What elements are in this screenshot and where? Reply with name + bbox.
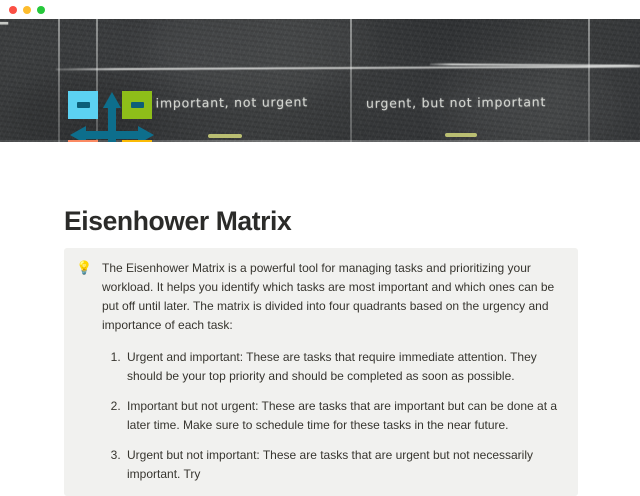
chalk-divider-horizontal: [56, 66, 640, 71]
list-item[interactable]: Important but not urgent: These are task…: [124, 397, 564, 435]
close-window-button[interactable]: [9, 6, 17, 14]
chalk-dash-mark: [445, 133, 477, 137]
cover-quadrant-label-urgent-but-not-important: urgent, but not important: [366, 94, 546, 111]
document-body: Eisenhower Matrix 💡 The Eisenhower Matri…: [0, 142, 640, 400]
cover-vertical-chalk-text: important: [0, 19, 15, 27]
quadrant-numbered-list: Urgent and important: These are tasks th…: [102, 348, 564, 484]
callout-block[interactable]: 💡 The Eisenhower Matrix is a powerful to…: [64, 248, 578, 496]
maximize-window-button[interactable]: [37, 6, 45, 14]
callout-paragraph[interactable]: The Eisenhower Matrix is a powerful tool…: [102, 259, 564, 335]
callout-content: The Eisenhower Matrix is a powerful tool…: [102, 259, 564, 484]
page-icon-tile-top-right: [122, 91, 152, 119]
chalk-dash-mark: [208, 134, 242, 138]
list-item[interactable]: Urgent and important: These are tasks th…: [124, 348, 564, 386]
page-icon-tile-bar: [77, 102, 90, 108]
page-icon-tile-top-left: [68, 91, 98, 119]
window-title-bar: [0, 0, 640, 19]
light-bulb-icon[interactable]: 💡: [76, 259, 93, 484]
chalk-smudge: [140, 19, 370, 99]
list-item[interactable]: Urgent but not important: These are task…: [124, 446, 564, 484]
window-controls: [9, 6, 45, 14]
chalk-divider-vertical: [588, 19, 590, 142]
chalk-divider-vertical: [350, 19, 352, 142]
page-title[interactable]: Eisenhower Matrix: [64, 206, 291, 238]
page-icon-tile-bar: [131, 102, 144, 108]
chalk-divider-vertical: [58, 19, 60, 142]
minimize-window-button[interactable]: [23, 6, 31, 14]
